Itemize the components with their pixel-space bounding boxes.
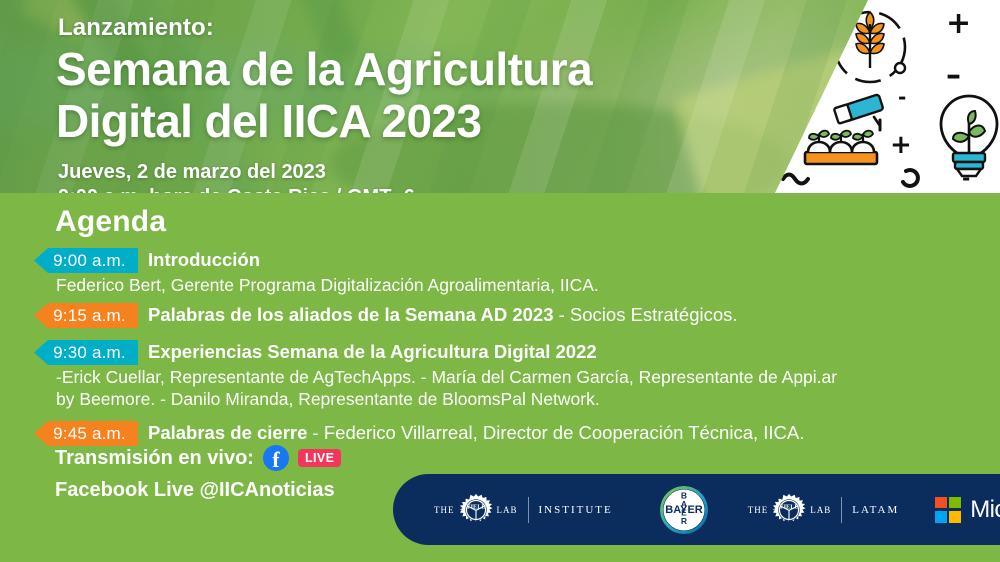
- agenda-item-title-wrap: Palabras de cierre - Federico Villarreal…: [148, 420, 804, 445]
- yield-lab-lab-label: LAB: [810, 505, 831, 515]
- agenda-time-label: 9:00 a.m.: [41, 251, 126, 271]
- microsoft-wordmark: Microsoft: [970, 496, 1000, 524]
- header-kicker: Lanzamiento:: [58, 14, 592, 42]
- seedling-tray-icon: [805, 131, 877, 164]
- agenda-item: 9:45 a.m. Palabras de cierre - Federico …: [34, 420, 974, 446]
- yield-lab-latam-word: LATAM: [852, 504, 899, 516]
- agenda-item: 9:00 a.m. Introducción Federico Bert, Ge…: [34, 247, 974, 296]
- plus-sign-icon: +: [946, 6, 971, 41]
- page-title-line-2: Digital del IICA 2023: [56, 98, 592, 144]
- sponsor-logo-the-yield-lab-institute[interactable]: THE YIELD LAB INSTITUTE: [434, 493, 613, 527]
- agenda-item-head: 9:00 a.m. Introducción: [34, 247, 974, 273]
- yield-lab-the-label: THE: [748, 505, 769, 515]
- yield-lab-mark-text: YIELD: [466, 503, 486, 510]
- sponsor-logo-bayer[interactable]: B A E R BAYER: [660, 486, 708, 534]
- poster-canvas: Lanzamiento: Semana de la Agricultura Di…: [0, 0, 1000, 562]
- live-badge: LIVE: [298, 449, 341, 467]
- microsoft-squares-icon: [935, 497, 961, 523]
- agenda-item-head: 9:45 a.m. Palabras de cierre - Federico …: [34, 420, 974, 446]
- facebook-icon-letter: f: [263, 448, 289, 472]
- yield-lab-gear-icon: YIELD: [459, 493, 493, 527]
- page-title-line-1: Semana de la Agricultura: [56, 46, 592, 92]
- header-subtitle-block: Jueves, 2 de marzo del 2023 9:00 a.m. ho…: [58, 160, 592, 193]
- bayer-cross-icon: B A E R BAYER: [660, 486, 708, 534]
- agenda-item: 9:30 a.m. Experiencias Semana de la Agri…: [34, 339, 974, 410]
- agenda-item-title: Palabras de cierre: [148, 422, 307, 443]
- minus-sign-icon: –: [946, 58, 961, 93]
- minus-sign-icon: -: [898, 85, 906, 109]
- sensor-camera-icon: [834, 94, 884, 130]
- yield-lab-lab-label: LAB: [497, 505, 518, 515]
- agenda-item-title-suffix: - Federico Villarreal, Director de Coope…: [307, 422, 804, 443]
- agenda-item-description: Federico Bert, Gerente Programa Digitali…: [56, 274, 974, 296]
- lightbulb-plant-icon: [941, 96, 997, 176]
- sponsor-divider: [841, 497, 842, 523]
- agenda-time-badge: 9:45 a.m.: [34, 421, 138, 446]
- agenda-item-description: -Erick Cuellar, Representante de AgTechA…: [56, 366, 974, 410]
- yield-lab-gear-icon: YIELD: [772, 493, 806, 527]
- agenda-time-badge: 9:30 a.m.: [34, 340, 138, 365]
- event-time: 9:00 a.m. hora de Costa Rica / GMT -6.: [58, 185, 592, 193]
- plus-sign-icon: +: [890, 130, 912, 160]
- agenda-item-title: Palabras de los aliados de la Semana AD …: [148, 304, 553, 325]
- facebook-icon[interactable]: f: [263, 445, 289, 471]
- yield-lab-mark-text: YIELD: [779, 503, 799, 510]
- yield-lab-the-label: THE: [434, 505, 455, 515]
- yield-lab-institute-word: INSTITUTE: [539, 504, 613, 516]
- sponsor-logo-the-yield-lab-latam[interactable]: THE YIELD LAB LATAM: [748, 493, 900, 527]
- livestream-handle[interactable]: Facebook Live @IICAnoticias: [55, 477, 341, 503]
- header-banner: Lanzamiento: Semana de la Agricultura Di…: [0, 0, 1000, 193]
- agenda-time-badge: 9:15 a.m.: [34, 303, 138, 328]
- agenda-item-title: Introducción: [148, 249, 260, 270]
- agenda-item-head: 9:15 a.m. Palabras de los aliados de la …: [34, 302, 974, 328]
- svg-text:R: R: [681, 516, 687, 526]
- sponsor-divider: [528, 497, 529, 523]
- agenda-item-head: 9:30 a.m. Experiencias Semana de la Agri…: [34, 339, 974, 365]
- event-date: Jueves, 2 de marzo del 2023: [58, 160, 592, 185]
- header-text-block: Lanzamiento: Semana de la Agricultura Di…: [56, 14, 592, 193]
- sponsor-bar: THE YIELD LAB INSTITUTE: [393, 474, 1000, 545]
- agenda-item-title: Experiencias Semana de la Agricultura Di…: [148, 341, 597, 362]
- livestream-block: Transmisión en vivo: f LIVE Facebook Liv…: [55, 445, 341, 503]
- agenda-item-title-wrap: Palabras de los aliados de la Semana AD …: [148, 302, 738, 327]
- agenda-item-title-wrap: Experiencias Semana de la Agricultura Di…: [148, 339, 597, 364]
- agenda-list: 9:00 a.m. Introducción Federico Bert, Ge…: [34, 247, 974, 448]
- bayer-wordmark: BAYER: [665, 504, 703, 516]
- tilde-icon: [783, 175, 808, 184]
- sponsor-logo-microsoft[interactable]: Microsoft: [935, 496, 1000, 524]
- livestream-label: Transmisión en vivo:: [55, 445, 254, 471]
- agenda-item-title-wrap: Introducción: [148, 247, 260, 272]
- agenda-time-badge: 9:00 a.m.: [34, 248, 138, 273]
- arc-icon: [903, 170, 918, 186]
- livestream-line-1: Transmisión en vivo: f LIVE: [55, 445, 341, 471]
- agenda-item: 9:15 a.m. Palabras de los aliados de la …: [34, 302, 974, 328]
- agenda-heading: Agenda: [55, 205, 166, 239]
- agenda-item-title-suffix: - Socios Estratégicos.: [553, 304, 737, 325]
- agenda-time-label: 9:15 a.m.: [41, 306, 126, 326]
- agenda-time-label: 9:45 a.m.: [41, 424, 126, 444]
- agenda-time-label: 9:30 a.m.: [41, 343, 126, 363]
